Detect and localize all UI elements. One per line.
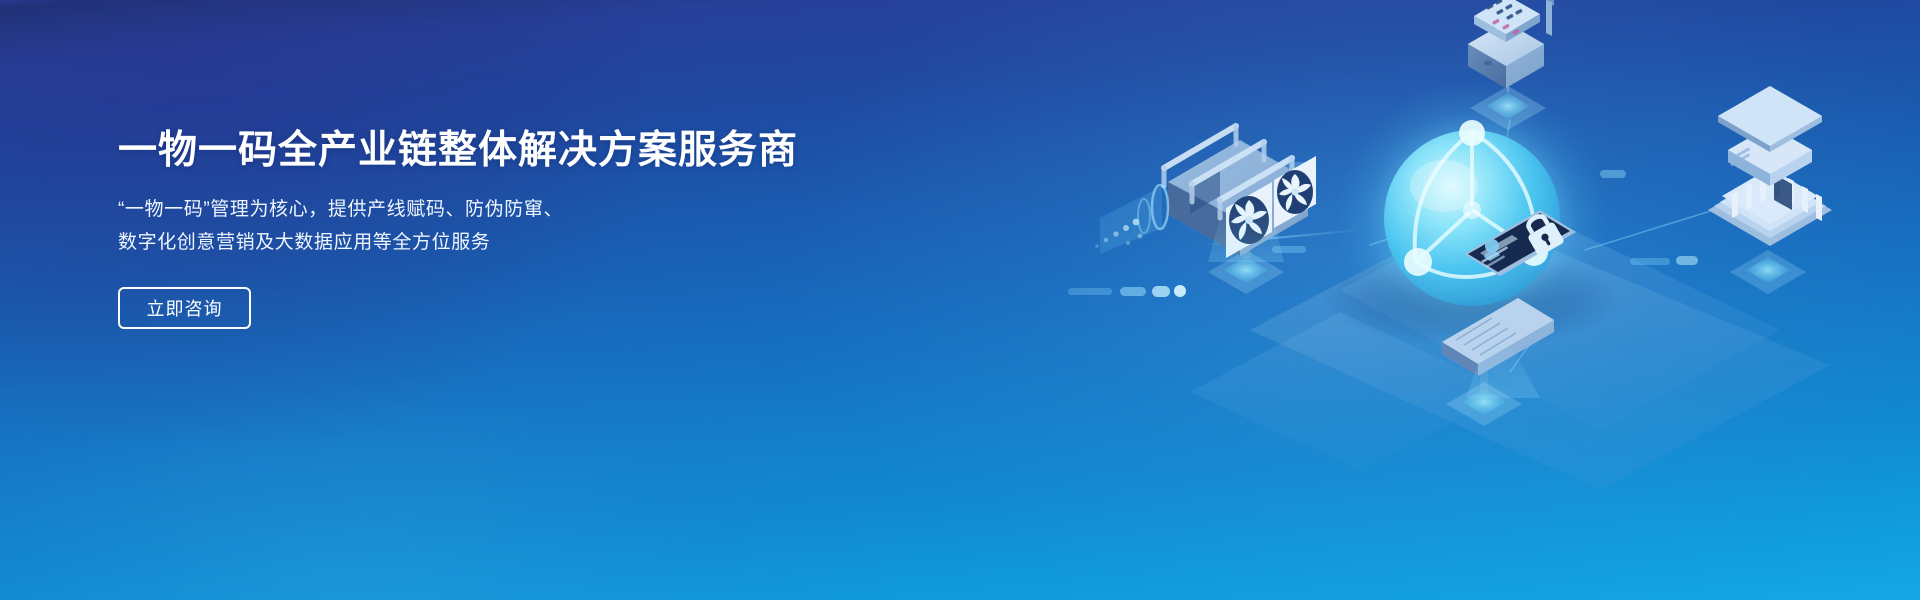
pos-terminal-icon — [1468, 0, 1592, 130]
cta-container: 立即咨询 — [118, 259, 898, 329]
airflow-cone — [1095, 185, 1168, 254]
consult-now-button[interactable]: 立即咨询 — [118, 287, 251, 329]
hero-banner: 一物一码全产业链整体解决方案服务商 “一物一码”管理为核心，提供产线赋码、防伪防… — [0, 0, 1920, 600]
server-fans-icon — [1095, 126, 1316, 294]
hero-subtitle: “一物一码”管理为核心，提供产线赋码、防伪防窜、 数字化创意营销及大数据应用等全… — [118, 175, 898, 259]
hero-copy: 一物一码全产业链整体解决方案服务商 “一物一码”管理为核心，提供产线赋码、防伪防… — [118, 128, 898, 329]
page-title: 一物一码全产业链整体解决方案服务商 — [118, 128, 898, 175]
glowing-network-sphere — [1334, 80, 1610, 356]
hero-illustration — [1040, 0, 1920, 600]
bank-building-icon — [1708, 86, 1832, 294]
subtitle-line-1: “一物一码”管理为核心，提供产线赋码、防伪防窜、 — [118, 193, 898, 226]
subtitle-line-2: 数字化创意营销及大数据应用等全方位服务 — [118, 226, 898, 259]
